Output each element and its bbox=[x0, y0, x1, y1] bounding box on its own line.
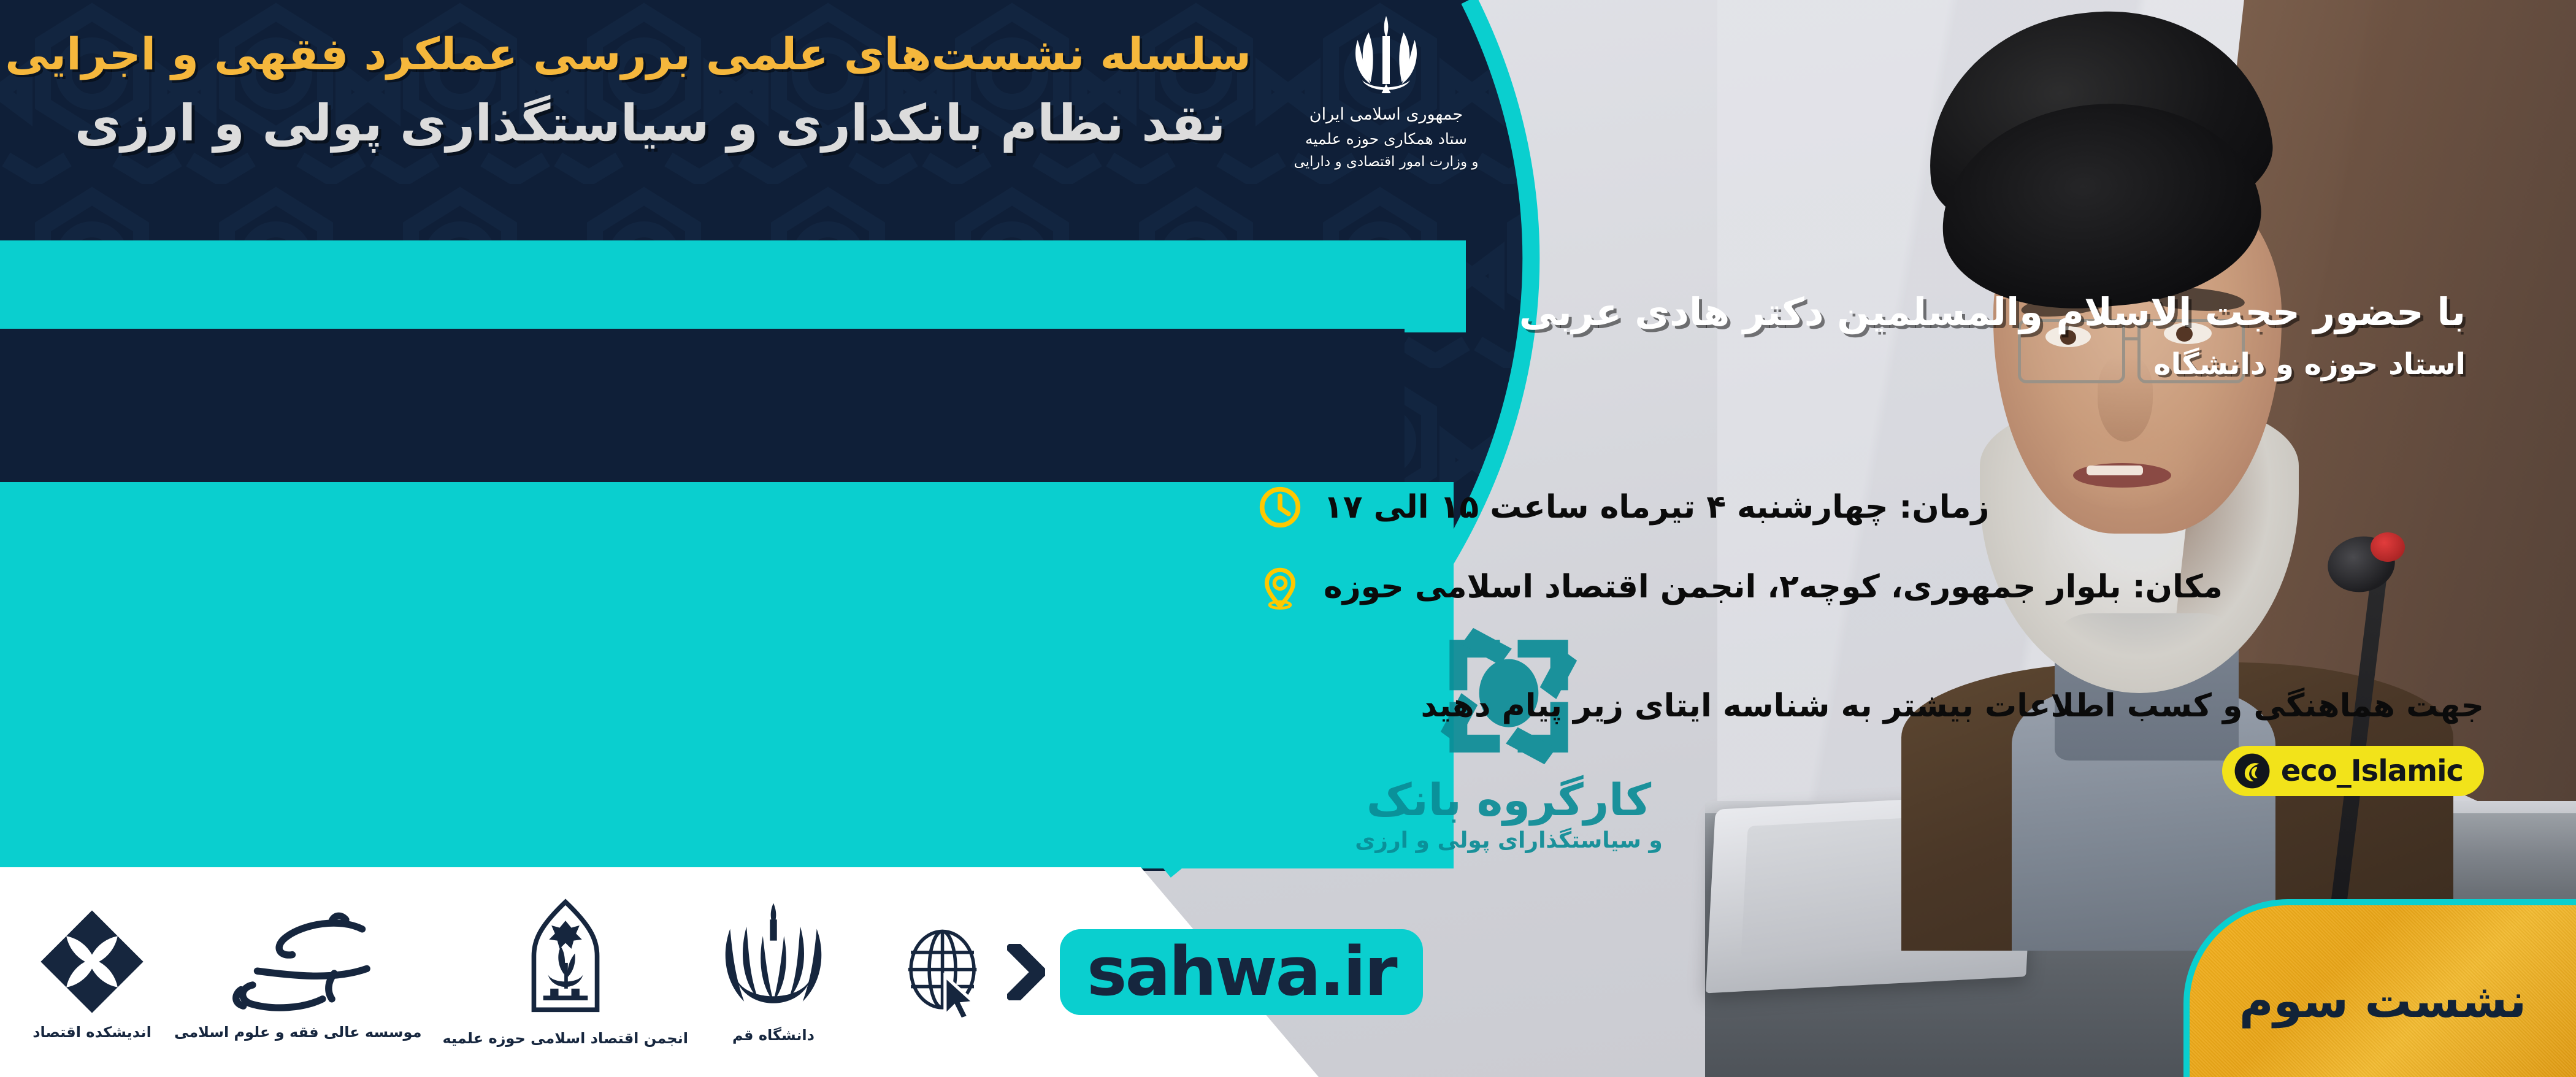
chevron-right-icon bbox=[1007, 944, 1045, 1000]
event-poster: جمهوری اسلامی ایران ستاد همکاری حوزه علم… bbox=[0, 0, 2576, 1077]
poster-header: جمهوری اسلامی ایران ستاد همکاری حوزه علم… bbox=[0, 0, 1533, 240]
teal-band-top bbox=[0, 240, 1466, 332]
globe-cursor-icon bbox=[900, 926, 992, 1018]
detail-text-time: زمان: چهارشنبه ۴ تیرماه ساعت ۱۵ الی ۱۷ bbox=[1324, 488, 1989, 526]
sahwa-site-logo[interactable]: sahwa.ir bbox=[900, 926, 1423, 1018]
gov-line-1: جمهوری اسلامی ایران bbox=[1257, 102, 1515, 128]
eitaa-id-badge[interactable]: eco_Islamic bbox=[2222, 746, 2484, 796]
partner-logo-feqh: موسسه عالی فقه و علوم اسلامی bbox=[174, 903, 421, 1041]
speaker-block-background bbox=[0, 329, 1405, 488]
daneshgah-qom-logo bbox=[709, 900, 838, 1023]
event-details: زمان: چهارشنبه ۴ تیرماه ساعت ۱۵ الی ۱۷ م… bbox=[1257, 485, 2466, 644]
contact-cta: جهت هماهنگی و کسب اطلاعات بیشتر به شناسه… bbox=[1227, 687, 2484, 796]
anjoman-eqtesad-eslami-logo bbox=[510, 897, 621, 1026]
gov-line-2: ستاد همکاری حوزه علمیه bbox=[1257, 128, 1515, 151]
poster-title: سلسله نشست‌های علمی بررسی عملکرد فقهی و … bbox=[49, 25, 1251, 158]
partner-caption-4: دانشگاه قم bbox=[732, 1027, 815, 1044]
session-number-text: نشست سوم bbox=[2239, 973, 2526, 1028]
speaker-info: با حضور حجت الاسلام والمسلمین دکتر هادی … bbox=[1423, 288, 2466, 381]
partner-caption-2: موسسه عالی فقه و علوم اسلامی bbox=[174, 1024, 421, 1041]
detail-text-location: مکان: بلوار جمهوری، کوچه۲، انجمن اقتصاد … bbox=[1324, 568, 2223, 606]
gov-line-3: و وزارت امور اقتصادی و دارایی bbox=[1257, 151, 1515, 174]
government-logo-block: جمهوری اسلامی ایران ستاد همکاری حوزه علم… bbox=[1257, 6, 1515, 221]
eitaa-icon bbox=[2233, 752, 2271, 790]
eitaa-id-text: eco_Islamic bbox=[2281, 754, 2463, 788]
partner-caption-1: اندیشکده اقتصاد bbox=[33, 1024, 151, 1041]
cta-text: جهت هماهنگی و کسب اطلاعات بیشتر به شناسه… bbox=[1227, 687, 2484, 725]
partner-logo-qom-university: دانشگاه قم bbox=[709, 900, 838, 1044]
title-line-1: سلسله نشست‌های علمی بررسی عملکرد فقهی و … bbox=[49, 25, 1251, 84]
iran-emblem-icon bbox=[1340, 9, 1432, 101]
moasese-aali-feqh-logo bbox=[221, 903, 375, 1020]
location-pin-icon bbox=[1257, 564, 1303, 610]
watermark-subtitle: و سیاستگذارای پولی و ارزی bbox=[1313, 828, 1705, 853]
sahwa-domain-pill[interactable]: sahwa.ir bbox=[1060, 929, 1423, 1015]
partner-logo-andishkadeh: اندیشکده اقتصاد bbox=[31, 903, 153, 1041]
clock-icon bbox=[1257, 485, 1303, 530]
teal-details-panel bbox=[0, 482, 1454, 868]
sahwa-domain-text: sahwa.ir bbox=[1087, 932, 1396, 1011]
detail-row-location: مکان: بلوار جمهوری، کوچه۲، انجمن اقتصاد … bbox=[1257, 564, 2466, 610]
session-number-badge: نشست سوم bbox=[2183, 899, 2576, 1077]
speaker-name: با حضور حجت الاسلام والمسلمین دکتر هادی … bbox=[1423, 288, 2466, 336]
detail-row-time: زمان: چهارشنبه ۴ تیرماه ساعت ۱۵ الی ۱۷ bbox=[1257, 485, 2466, 530]
speaker-role: استاد حوزه و دانشگاه bbox=[1423, 347, 2466, 381]
partner-logo-anjoman: انجمن اقتصاد اسلامی حوزه علمیه bbox=[442, 897, 688, 1047]
partner-logos: اندیشکده اقتصاد موسسه عالی فقه و علوم اس… bbox=[0, 867, 1349, 1077]
title-line-2: نقد نظام بانکداری و سیاستگذاری پولی و ار… bbox=[49, 90, 1251, 158]
partner-caption-3: انجمن اقتصاد اسلامی حوزه علمیه bbox=[442, 1030, 688, 1047]
andishkadeh-eqtesad-logo bbox=[31, 903, 153, 1020]
